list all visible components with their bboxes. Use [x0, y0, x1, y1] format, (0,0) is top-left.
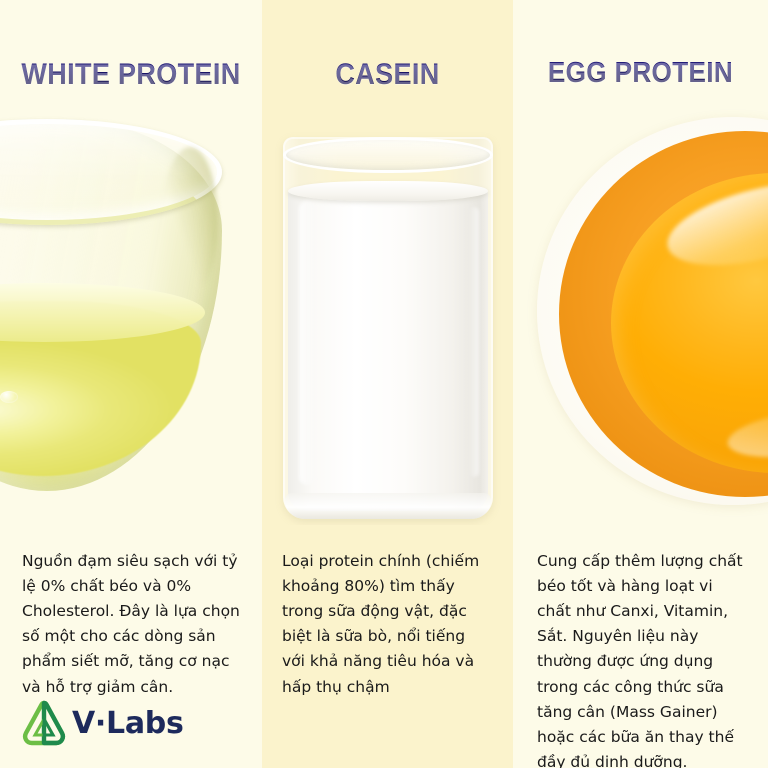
logo-text: V·Labs [72, 706, 184, 741]
heading-egg-protein: EGG PROTEIN [526, 57, 756, 90]
protein-comparison-infographic: WHITE PROTEIN Nguồn đạm siêu sạch với tỷ… [0, 0, 768, 768]
text-zone-egg-protein: Cung cấp thêm lượng chất béo tốt và hàng… [513, 525, 768, 768]
egg-white-bowl-icon [0, 119, 222, 491]
glass-base [285, 493, 491, 519]
milk-surface [288, 181, 488, 201]
column-casein: CASEIN Loại protein chính (chiếm khoảng … [262, 0, 513, 768]
column-egg-protein: EGG PROTEIN Cung cấp thêm lượng chất béo… [513, 0, 768, 768]
glass-highlight-left [299, 201, 315, 485]
egg-yolk-icon [537, 111, 768, 511]
bubble [0, 391, 18, 403]
image-white-protein [0, 105, 262, 525]
heading-zone-egg-protein: EGG PROTEIN [513, 0, 768, 105]
glass-highlight-right [469, 207, 479, 477]
milk-fill [288, 189, 488, 511]
description-egg-protein: Cung cấp thêm lượng chất béo tốt và hàng… [537, 549, 748, 768]
bowl-rim-shading [162, 147, 218, 297]
description-white-protein: Nguồn đạm siêu sạch với tỷ lệ 0% chất bé… [22, 549, 240, 700]
green-flask-triangle-icon [22, 700, 66, 746]
text-zone-casein: Loại protein chính (chiếm khoảng 80%) tì… [262, 525, 513, 768]
heading-casein: CASEIN [275, 58, 501, 92]
heading-white-protein: WHITE PROTEIN [13, 58, 249, 92]
heading-zone-casein: CASEIN [262, 0, 513, 105]
image-casein [262, 105, 513, 525]
heading-zone-white-protein: WHITE PROTEIN [0, 0, 262, 105]
glass-of-milk-icon [283, 137, 493, 519]
description-casein: Loại protein chính (chiếm khoảng 80%) tì… [282, 549, 491, 700]
brand-logo: V·Labs [22, 700, 184, 746]
glass-rim [283, 137, 493, 173]
image-egg-protein [513, 105, 768, 525]
column-white-protein: WHITE PROTEIN Nguồn đạm siêu sạch với tỷ… [0, 0, 262, 768]
